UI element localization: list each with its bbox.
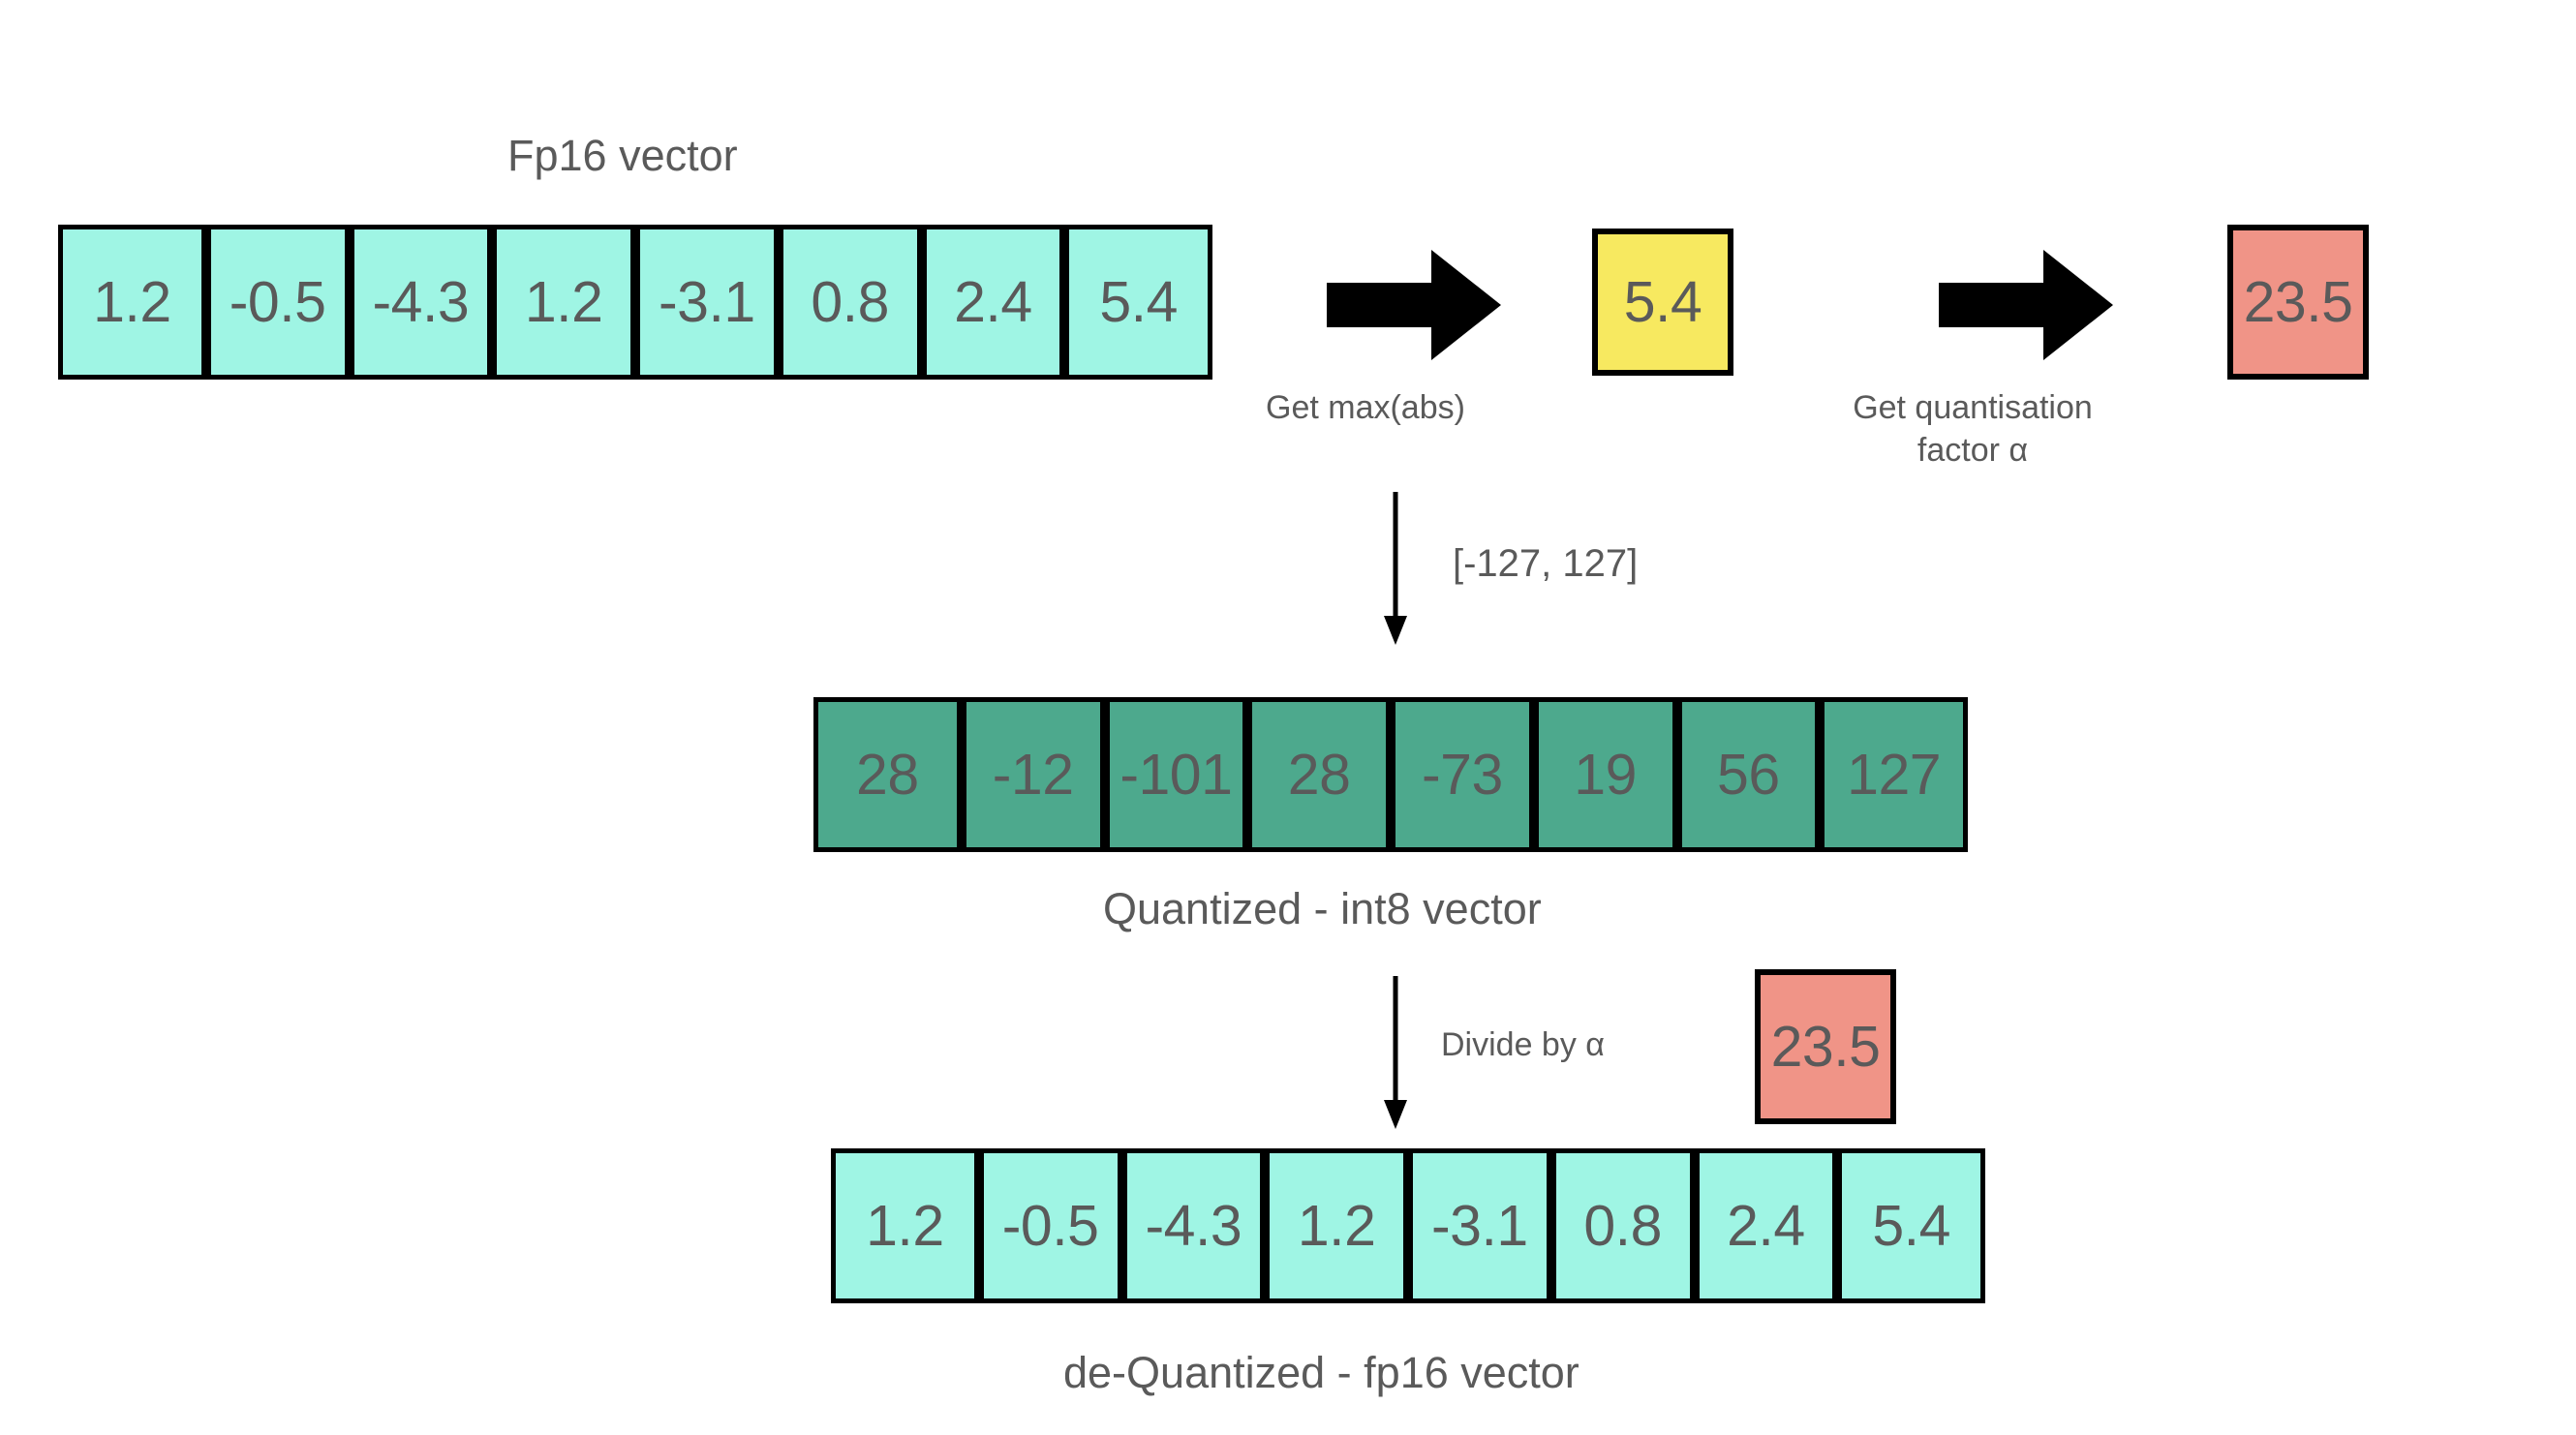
vector-cell: 0.8 <box>1551 1153 1695 1298</box>
quantisation-factor-box: 23.5 <box>2227 225 2369 380</box>
quantisation-factor-box-reuse: 23.5 <box>1755 969 1896 1124</box>
int8-quantized-vector: 28 -12 -101 28 -73 19 56 127 <box>813 697 1968 852</box>
vector-cell: 2.4 <box>922 229 1065 375</box>
vector-cell: -4.3 <box>350 229 493 375</box>
vector-cell: 19 <box>1534 702 1677 847</box>
fp16-input-vector: 1.2 -0.5 -4.3 1.2 -3.1 0.8 2.4 5.4 <box>58 225 1212 380</box>
int8-range-label: [-127, 127] <box>1453 539 1638 589</box>
vector-cell: 1.2 <box>1265 1153 1408 1298</box>
vector-cell: 2.4 <box>1695 1153 1838 1298</box>
vector-cell: 1.2 <box>63 229 206 375</box>
right-arrow-icon <box>1939 242 2113 368</box>
vector-cell: 1.2 <box>836 1153 979 1298</box>
vector-cell: 28 <box>818 702 962 847</box>
diagram-canvas: Fp16 vector 1.2 -0.5 -4.3 1.2 -3.1 0.8 2… <box>0 0 2576 1435</box>
vector-cell: -73 <box>1391 702 1534 847</box>
vector-cell: 5.4 <box>1064 229 1208 375</box>
get-max-abs-label: Get max(abs) <box>1266 387 1465 430</box>
vector-cell: 1.2 <box>492 229 635 375</box>
vector-cell: -4.3 <box>1122 1153 1266 1298</box>
max-abs-value-box: 5.4 <box>1592 229 1733 376</box>
vector-cell: -3.1 <box>635 229 779 375</box>
vector-cell: -3.1 <box>1408 1153 1551 1298</box>
vector-cell: -0.5 <box>206 229 350 375</box>
vector-cell: -0.5 <box>979 1153 1122 1298</box>
vector-cell: 5.4 <box>1837 1153 1980 1298</box>
dequantized-fp16-vector: 1.2 -0.5 -4.3 1.2 -3.1 0.8 2.4 5.4 <box>831 1148 1985 1303</box>
divide-by-alpha-label: Divide by α <box>1441 1024 1605 1067</box>
right-arrow-icon <box>1327 242 1501 368</box>
down-arrow-icon <box>1370 976 1421 1131</box>
vector-cell: 0.8 <box>779 229 922 375</box>
fp16-vector-title: Fp16 vector <box>507 128 738 184</box>
down-arrow-icon <box>1370 492 1421 647</box>
vector-cell: 28 <box>1247 702 1391 847</box>
get-quantisation-factor-label: Get quantisation factor α <box>1813 387 2132 472</box>
vector-cell: -12 <box>962 702 1105 847</box>
vector-cell: -101 <box>1105 702 1248 847</box>
vector-cell: 127 <box>1820 702 1963 847</box>
vector-cell: 56 <box>1677 702 1821 847</box>
dequantized-fp16-vector-label: de-Quantized - fp16 vector <box>1063 1345 1579 1401</box>
quantized-int8-vector-label: Quantized - int8 vector <box>1103 881 1542 937</box>
